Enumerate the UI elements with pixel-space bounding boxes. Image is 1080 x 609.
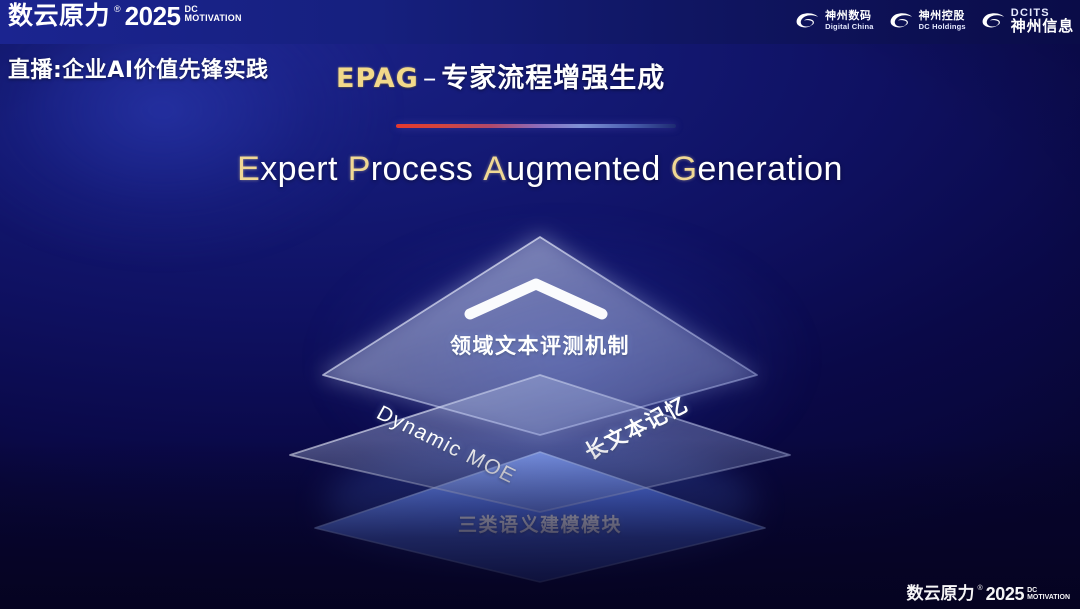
partner-logo-digital-china: 神州数码 Digital China xyxy=(794,10,873,31)
brand-year: 2025 xyxy=(125,3,181,29)
gradient-divider xyxy=(396,124,676,128)
watermark-year: 2025 xyxy=(986,585,1024,603)
swirl-logo-icon xyxy=(794,10,820,30)
slide-watermark: 数云原力 ® 2025 DC MOTIVATION xyxy=(906,585,1070,603)
subtitle-cap-p: P xyxy=(348,150,371,188)
swirl-logo-icon xyxy=(980,10,1006,30)
subtitle-english: Expert Process Augmented Generation xyxy=(0,150,1080,189)
partner-label: 神州数码 Digital China xyxy=(825,10,873,31)
page-title-cn: 专家流程增强生成 xyxy=(441,63,665,94)
partner-name-en: Digital China xyxy=(825,23,873,31)
partner-logo-group: 神州数码 Digital China 神州控股 DC Holdings DCIT… xyxy=(794,6,1074,34)
subtitle-cap-a: A xyxy=(483,150,506,188)
page-title-acronym: EPAG xyxy=(336,63,419,94)
partner-logo-dc-holdings: 神州控股 DC Holdings xyxy=(888,10,966,31)
brand-dc-line2: MOTIVATION xyxy=(185,14,242,23)
subtitle-rest-expert: xpert xyxy=(260,150,338,188)
page-title: EPAG–专家流程增强生成 xyxy=(336,56,665,95)
brand-dc-motivation: DC MOTIVATION xyxy=(185,3,242,23)
live-stream-title: 直播:企业AI价值先锋实践 xyxy=(8,52,269,84)
registered-mark-icon: ® xyxy=(114,3,121,15)
swirl-logo-icon xyxy=(888,10,914,30)
brand-logo: 数云原力 ® 2025 DC MOTIVATION xyxy=(8,3,242,29)
partner-label: DCITS 神州信息 xyxy=(1011,6,1074,34)
presentation-slide: 数云原力 ® 2025 DC MOTIVATION 直播:企业AI价值先锋实践 … xyxy=(0,0,1080,609)
brand-name-cn: 数云原力 xyxy=(8,3,110,29)
subtitle-rest-generation: eneration xyxy=(697,150,842,188)
watermark-name-cn: 数云原力 xyxy=(906,585,974,603)
page-title-dash: – xyxy=(419,63,442,94)
chevron-up-icon xyxy=(462,274,610,322)
partner-name-cn: 神州控股 xyxy=(919,10,966,21)
layer-label-top: 领域文本评测机制 xyxy=(0,330,1080,360)
subtitle-rest-augmented: ugmented xyxy=(506,150,660,188)
watermark-dc-motivation: DC MOTIVATION xyxy=(1027,585,1070,601)
partner-label: 神州控股 DC Holdings xyxy=(919,10,966,31)
partner-logo-dcits: DCITS 神州信息 xyxy=(980,6,1074,34)
watermark-dc-line2: MOTIVATION xyxy=(1027,594,1070,601)
watermark-registered-mark-icon: ® xyxy=(977,585,982,593)
watermark-dc-line1: DC xyxy=(1027,587,1070,594)
partner-name-cn: 神州数码 xyxy=(825,10,873,21)
subtitle-cap-e: E xyxy=(237,150,260,188)
partner-name-cn: 神州信息 xyxy=(1011,19,1074,34)
subtitle-cap-g: G xyxy=(671,150,698,188)
partner-name-en: DC Holdings xyxy=(919,23,966,31)
subtitle-rest-process: rocess xyxy=(371,150,474,188)
